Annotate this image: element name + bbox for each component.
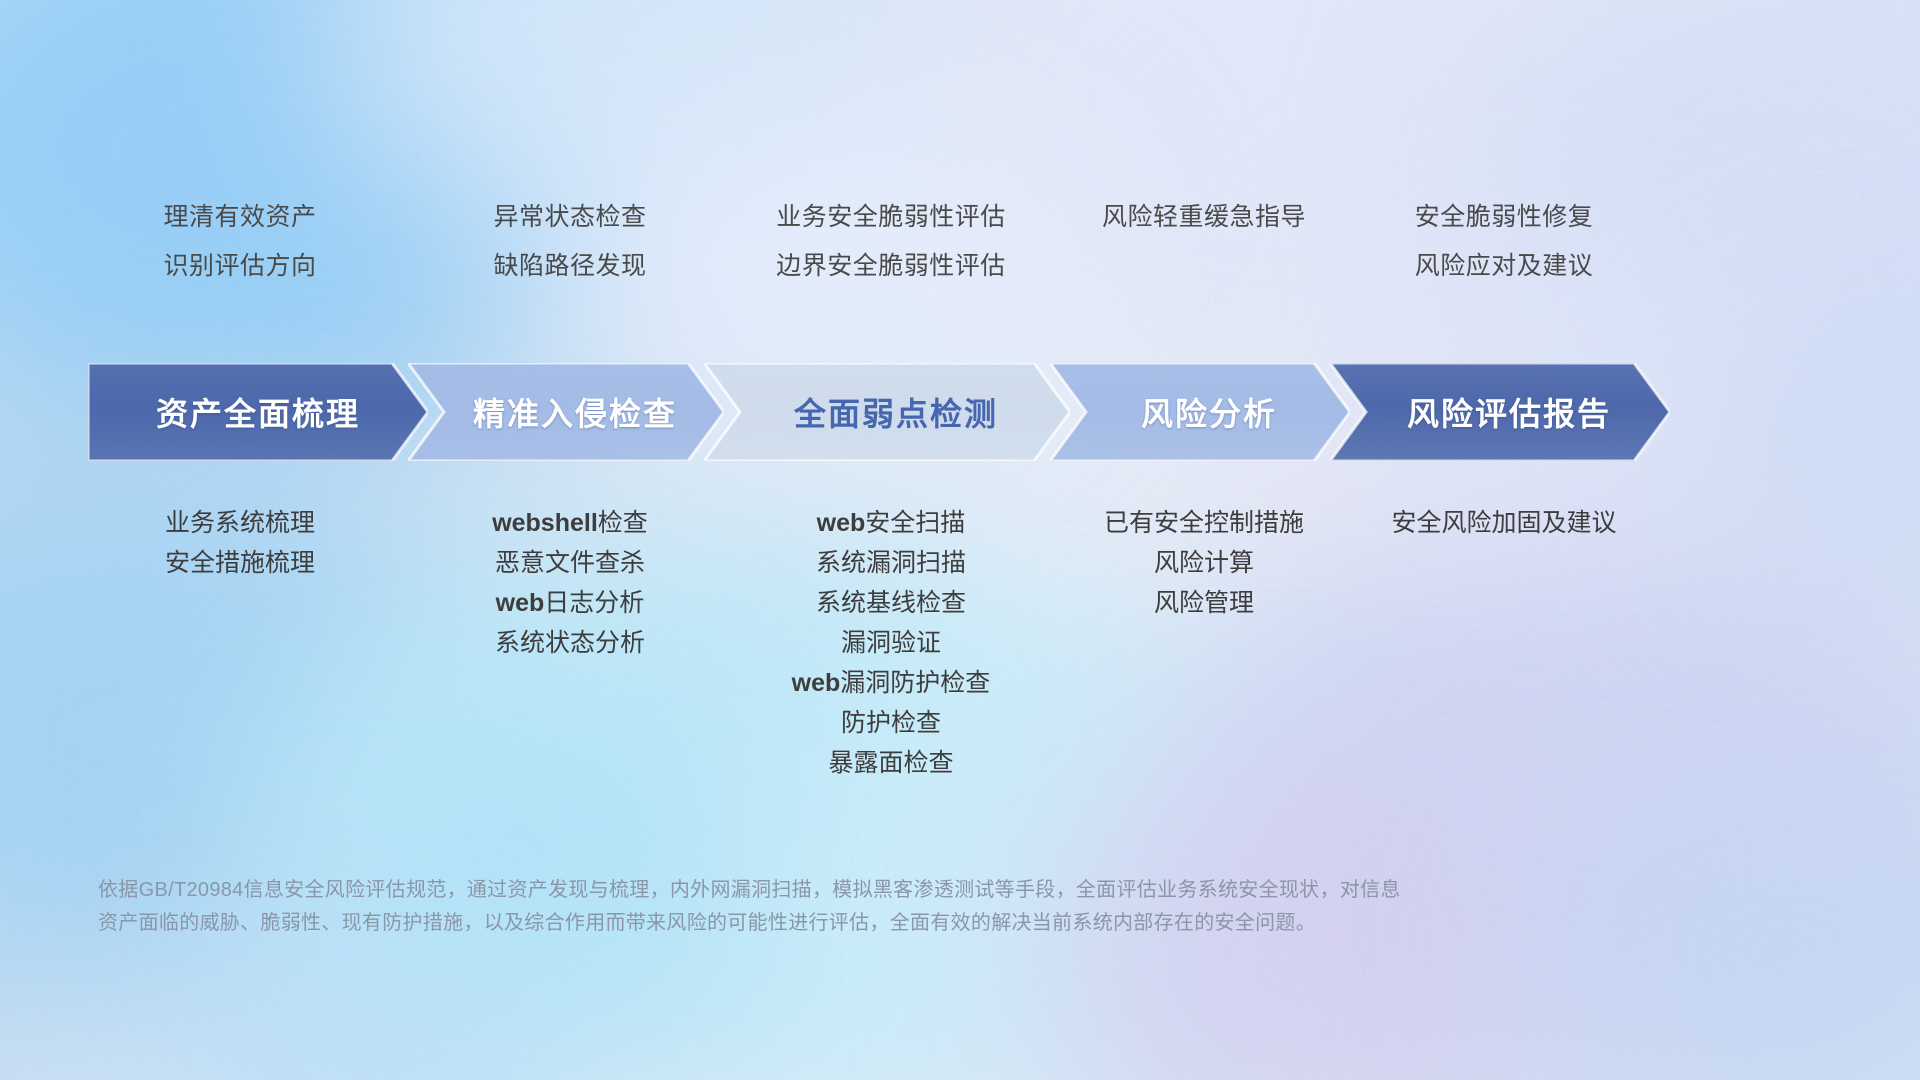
stage-top-list: 安全脆弱性修复风险应对及建议 [1204, 193, 1804, 291]
stage-arrow-label: 全面弱点检测 [794, 389, 998, 435]
stage-arrow-4[interactable]: 风险分析 [1050, 363, 1350, 461]
process-diagram: 资产全面梳理精准入侵检查全面弱点检测风险分析风险评估报告 理清有效资产识别评估方… [0, 0, 1920, 1080]
stage-arrow-5[interactable]: 风险评估报告 [1330, 363, 1670, 461]
caption-line-1: 依据GB/T20984信息安全风险评估规范，通过资产发现与梳理，内外网漏洞扫描，… [98, 874, 1658, 907]
caption-paragraph: 依据GB/T20984信息安全风险评估规范，通过资产发现与梳理，内外网漏洞扫描，… [98, 874, 1658, 940]
stage-top-item: 安全脆弱性修复 [1204, 193, 1804, 242]
stage-bottom-item: 安全风险加固及建议 [1204, 503, 1804, 543]
stage-arrow-label: 资产全面梳理 [156, 389, 360, 435]
stage-top-item: 风险应对及建议 [1204, 242, 1804, 291]
stage-bottom-item-prefix: web [496, 589, 545, 617]
stage-arrow-band: 资产全面梳理精准入侵检查全面弱点检测风险分析风险评估报告 [88, 363, 1828, 461]
stage-bottom-item-prefix: web [792, 669, 841, 697]
stage-bottom-item-prefix: webshell [492, 509, 598, 537]
stage-bottom-item-prefix: web [817, 509, 866, 537]
stage-arrow-1[interactable]: 资产全面梳理 [88, 363, 428, 461]
caption-line-2: 资产面临的威胁、脆弱性、现有防护措施，以及综合作用而带来风险的可能性进行评估，全… [98, 907, 1658, 940]
stage-arrow-3[interactable]: 全面弱点检测 [704, 363, 1070, 461]
stage-bottom-list: 安全风险加固及建议 [1204, 503, 1804, 543]
stage-arrow-label: 风险分析 [1141, 389, 1277, 435]
stage-arrow-label: 精准入侵检查 [473, 389, 677, 435]
stage-arrow-2[interactable]: 精准入侵检查 [408, 363, 724, 461]
stage-arrow-label: 风险评估报告 [1407, 389, 1611, 435]
